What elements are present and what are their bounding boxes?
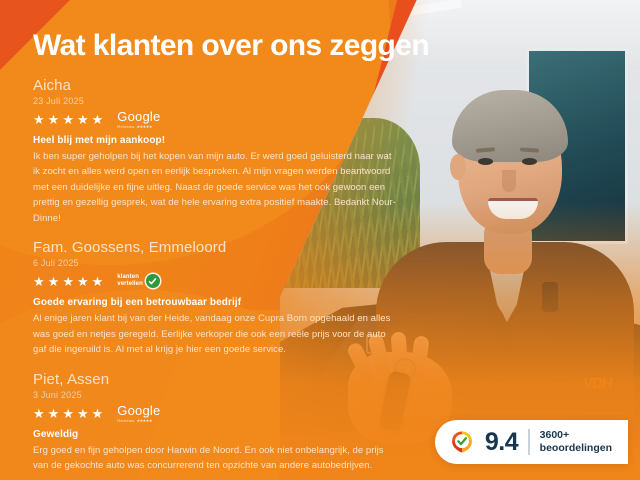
score-badge: 9.4 3600+ beoordelingen (435, 420, 628, 464)
review-date: 23 Juli 2025 (33, 96, 640, 106)
klantenvertellen-check-icon (146, 274, 160, 288)
star-icon: ★ (33, 275, 45, 288)
score-value: 9.4 (485, 430, 518, 455)
star-icon: ★ (33, 113, 45, 126)
mini-star-rating-icon: ★★★★★ (137, 418, 152, 423)
star-icon: ★ (92, 407, 104, 420)
mini-star-rating-icon: ★★★★★ (137, 124, 152, 129)
score-count-number: 3600+ (540, 429, 612, 442)
star-icon: ★ (77, 113, 89, 126)
score-divider (528, 429, 530, 455)
google-reviews-sub: Reviews ★★★★★ (117, 124, 152, 129)
review-item: Aicha 23 Juli 2025 ★ ★ ★ ★ ★ Google Revi… (33, 78, 640, 226)
star-rating: ★ ★ ★ ★ ★ (33, 113, 103, 126)
review-body: Ik ben super geholpen bij het kopen van … (33, 149, 401, 226)
review-body: Erg goed en fijn geholpen door Harwin de… (33, 443, 401, 474)
review-banner: VDH Wat klanten over ons zeggen Aicha 23… (0, 0, 640, 480)
google-logo-text: Google (117, 404, 160, 417)
score-count: 3600+ beoordelingen (540, 429, 612, 455)
review-date: 3 Juni 2025 (33, 390, 640, 400)
review-title: Goede ervaring bij een betrouwbaar bedri… (33, 297, 640, 308)
star-icon: ★ (77, 407, 89, 420)
reviewer-name: Fam. Goossens, Emmeloord (33, 240, 640, 257)
star-rating: ★ ★ ★ ★ ★ (33, 407, 103, 420)
review-body: Al enige jaren klant bij van der Heide, … (33, 311, 401, 357)
reviewer-name: Piet, Assen (33, 372, 640, 389)
review-date: 6 Juli 2025 (33, 258, 640, 268)
review-title: Heel blij met mijn aankoop! (33, 135, 640, 146)
review-item: Fam. Goossens, Emmeloord 6 Juli 2025 ★ ★… (33, 240, 640, 358)
google-reviews-sub: Reviews ★★★★★ (117, 418, 152, 423)
klantenvertellen-line1: klanten (117, 274, 143, 281)
klantenvertellen-line2: vertellen (117, 281, 143, 288)
google-logo-text: Google (117, 110, 160, 123)
page-title: Wat klanten over ons zeggen (33, 30, 640, 62)
google-reviews-badge: Google Reviews ★★★★★ (117, 404, 160, 423)
star-icon: ★ (48, 407, 60, 420)
star-icon: ★ (48, 275, 60, 288)
star-icon: ★ (48, 113, 60, 126)
star-icon: ★ (33, 407, 45, 420)
review-meta: ★ ★ ★ ★ ★ Google Reviews ★★★★★ (33, 109, 640, 129)
klantenvertellen-wordmark: klanten vertellen (117, 274, 143, 288)
klantenvertellen-shield-icon (449, 429, 475, 455)
star-icon: ★ (62, 407, 74, 420)
review-meta: ★ ★ ★ ★ ★ klanten vertellen (33, 271, 640, 291)
star-icon: ★ (92, 275, 104, 288)
score-count-label: beoordelingen (540, 442, 612, 455)
google-reviews-label: Reviews (117, 418, 134, 423)
star-icon: ★ (62, 113, 74, 126)
reviewer-name: Aicha (33, 78, 640, 95)
star-rating: ★ ★ ★ ★ ★ (33, 275, 103, 288)
star-icon: ★ (92, 113, 104, 126)
google-reviews-label: Reviews (117, 124, 134, 129)
star-icon: ★ (62, 275, 74, 288)
content-column: Wat klanten over ons zeggen Aicha 23 Jul… (0, 0, 640, 480)
klantenvertellen-badge: klanten vertellen (117, 274, 160, 288)
google-reviews-badge: Google Reviews ★★★★★ (117, 110, 160, 129)
star-icon: ★ (77, 275, 89, 288)
